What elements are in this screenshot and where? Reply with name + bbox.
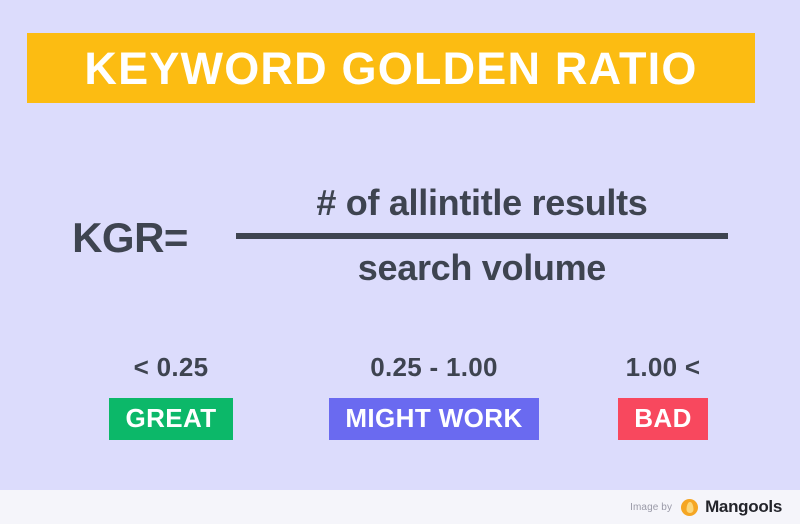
kgr-formula: KGR= # of allintitle results search volu…: [0, 160, 800, 310]
threshold-group-great: < 0.25 GREAT: [42, 352, 300, 440]
formula-denominator: search volume: [358, 247, 606, 288]
status-badge-great: GREAT: [109, 398, 232, 440]
status-badge-bad: BAD: [618, 398, 708, 440]
status-badge-might-work: MIGHT WORK: [329, 398, 538, 440]
formula-fraction: # of allintitle results search volume: [236, 182, 728, 289]
infographic-canvas: KEYWORD GOLDEN RATIO KGR= # of allintitl…: [0, 0, 800, 524]
threshold-range-might-work: 0.25 - 1.00: [370, 352, 498, 383]
formula-numerator: # of allintitle results: [316, 182, 647, 223]
threshold-group-bad: 1.00 < BAD: [568, 352, 758, 440]
threshold-legend: < 0.25 GREAT 0.25 - 1.00 MIGHT WORK 1.00…: [0, 352, 800, 440]
threshold-range-bad: 1.00 <: [626, 352, 701, 383]
title-banner: KEYWORD GOLDEN RATIO: [27, 33, 755, 103]
fraction-divider-bar: [236, 233, 728, 239]
threshold-group-might-work: 0.25 - 1.00 MIGHT WORK: [300, 352, 568, 440]
brand-name: Mangools: [705, 497, 782, 517]
mangools-flame-circle-icon: [681, 499, 698, 516]
threshold-range-great: < 0.25: [134, 352, 209, 383]
credit-label: Image by: [630, 502, 672, 513]
formula-left-hand-side: KGR=: [72, 214, 188, 262]
page-title: KEYWORD GOLDEN RATIO: [84, 46, 697, 91]
footer-credit-bar: Image by Mangools: [0, 490, 800, 524]
